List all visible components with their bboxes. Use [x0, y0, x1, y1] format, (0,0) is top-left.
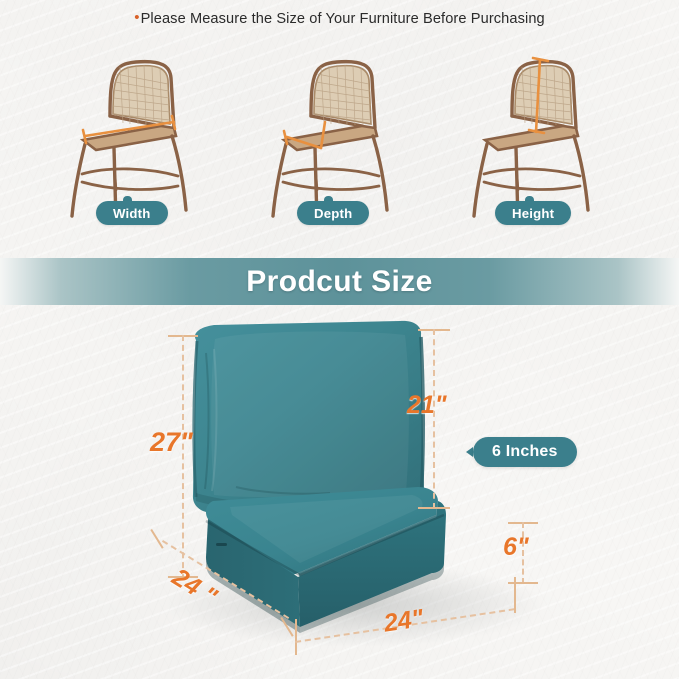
dim-label-back-panel-height: 21" — [407, 391, 447, 420]
headline: •Please Measure the Size of Your Furnitu… — [0, 10, 679, 27]
chair-width-cell: Width — [38, 44, 238, 234]
badge-width: Width — [96, 201, 168, 225]
six-inches-arrow-icon — [466, 447, 473, 457]
cushion-set-image — [0, 305, 679, 679]
infographic-page: •Please Measure the Size of Your Furnitu… — [0, 0, 679, 679]
dim-label-back-height: 27" — [150, 427, 193, 458]
back-cushion — [193, 321, 424, 513]
product-dimension-diagram: 27" 21" 6 Inches 6" 24 " 24" — [0, 305, 679, 679]
chair-depth-cell: Depth — [239, 44, 439, 234]
dim-6-bottom-tick — [508, 582, 538, 584]
chair-comparison-row: Width — [0, 44, 679, 234]
dim-label-seat-thickness: 6" — [503, 533, 529, 562]
chair-height-cell: Height — [440, 44, 640, 234]
badge-height: Height — [495, 201, 571, 225]
badge-depth: Depth — [297, 201, 369, 225]
product-size-banner: Prodcut Size — [0, 258, 679, 305]
headline-text: Please Measure the Size of Your Furnitur… — [141, 11, 545, 27]
banner-title: Prodcut Size — [246, 265, 433, 299]
cushion-tag — [216, 543, 227, 546]
rattan-cane-back — [113, 65, 170, 125]
dim-width-right-tick — [514, 577, 516, 613]
badge-six-inches: 6 Inches — [473, 437, 577, 467]
rattan-cane-back — [314, 65, 371, 125]
bullet-icon: • — [134, 9, 139, 26]
dim-21-bottom-tick — [418, 507, 450, 509]
dim-label-seat-width: 24" — [382, 604, 426, 639]
dim-width-left-tick — [295, 619, 297, 655]
rattan-cane-back — [515, 65, 572, 125]
